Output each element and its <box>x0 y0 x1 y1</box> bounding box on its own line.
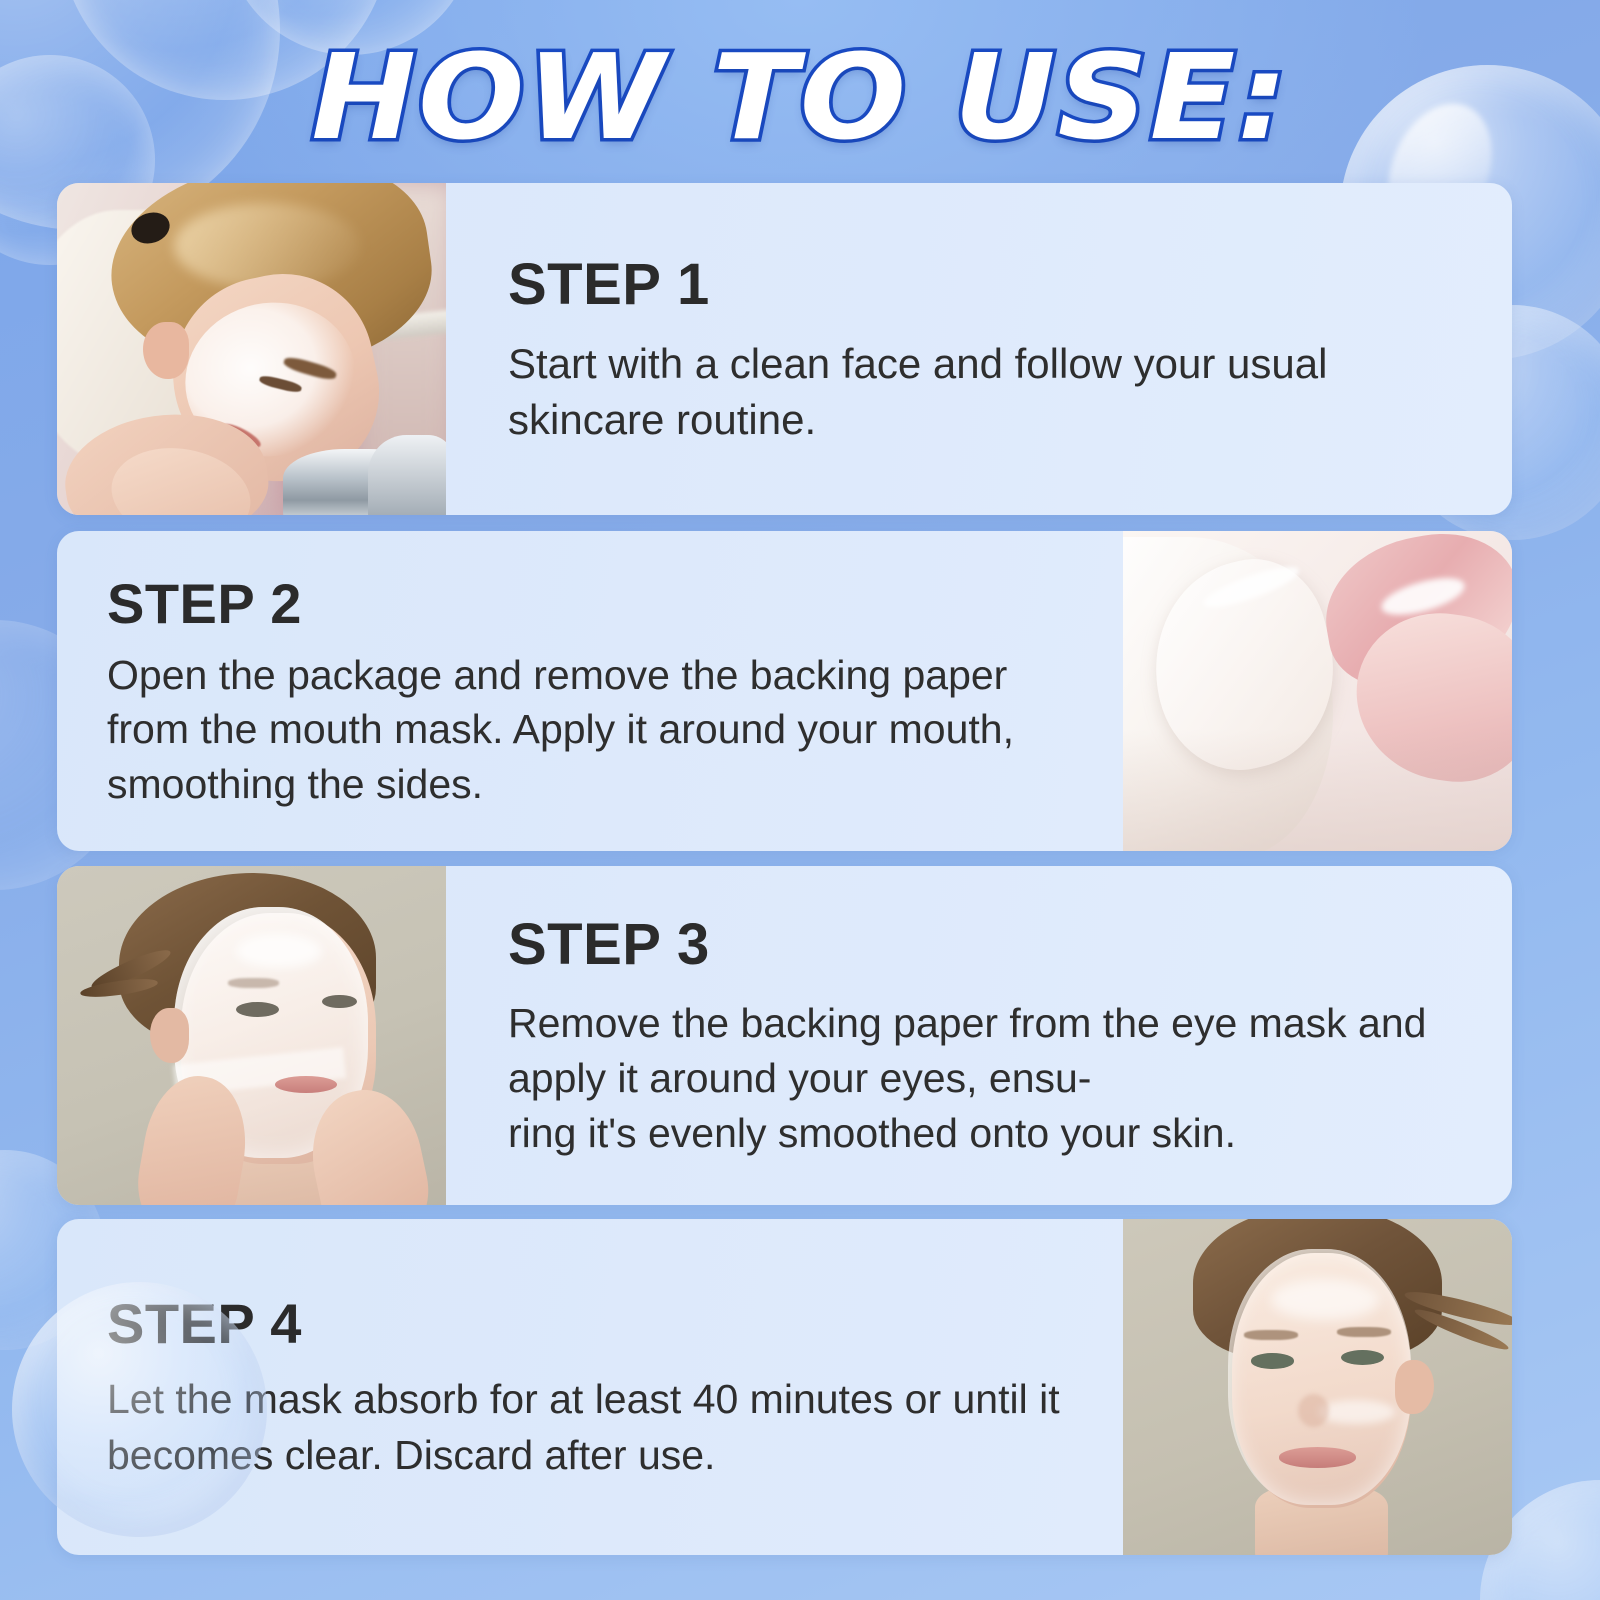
step-2-text: STEP 2 Open the package and remove the b… <box>57 531 1123 851</box>
step-1-image <box>57 183 446 515</box>
step-1-body: Start with a clean face and follow your … <box>508 336 1468 447</box>
how-to-use-poster: HOW TO USE: STEP 1 Start with a clean fa… <box>0 0 1600 1600</box>
step-3-body: Remove the backing paper from the eye ma… <box>508 996 1468 1161</box>
step-4-heading: STEP 4 <box>107 1295 1079 1352</box>
step-3-text: STEP 3 Remove the backing paper from the… <box>446 866 1512 1205</box>
step-card-4: STEP 4 Let the mask absorb for at least … <box>57 1219 1512 1555</box>
page-title-text: HOW TO USE: <box>311 28 1289 166</box>
step-2-body: Open the package and remove the backing … <box>107 648 1079 812</box>
step-2-image <box>1123 531 1512 851</box>
step-card-2: STEP 2 Open the package and remove the b… <box>57 531 1512 851</box>
step-card-1: STEP 1 Start with a clean face and follo… <box>57 183 1512 515</box>
page-title: HOW TO USE: <box>0 28 1600 166</box>
step-1-heading: STEP 1 <box>508 255 1468 314</box>
step-2-heading: STEP 2 <box>107 575 1079 632</box>
step-4-text: STEP 4 Let the mask absorb for at least … <box>57 1219 1123 1555</box>
step-4-image <box>1123 1219 1512 1555</box>
step-3-image <box>57 866 446 1205</box>
step-3-heading: STEP 3 <box>508 915 1468 974</box>
step-1-text: STEP 1 Start with a clean face and follo… <box>446 183 1512 515</box>
step-card-3: STEP 3 Remove the backing paper from the… <box>57 866 1512 1205</box>
step-4-body: Let the mask absorb for at least 40 minu… <box>107 1372 1079 1484</box>
